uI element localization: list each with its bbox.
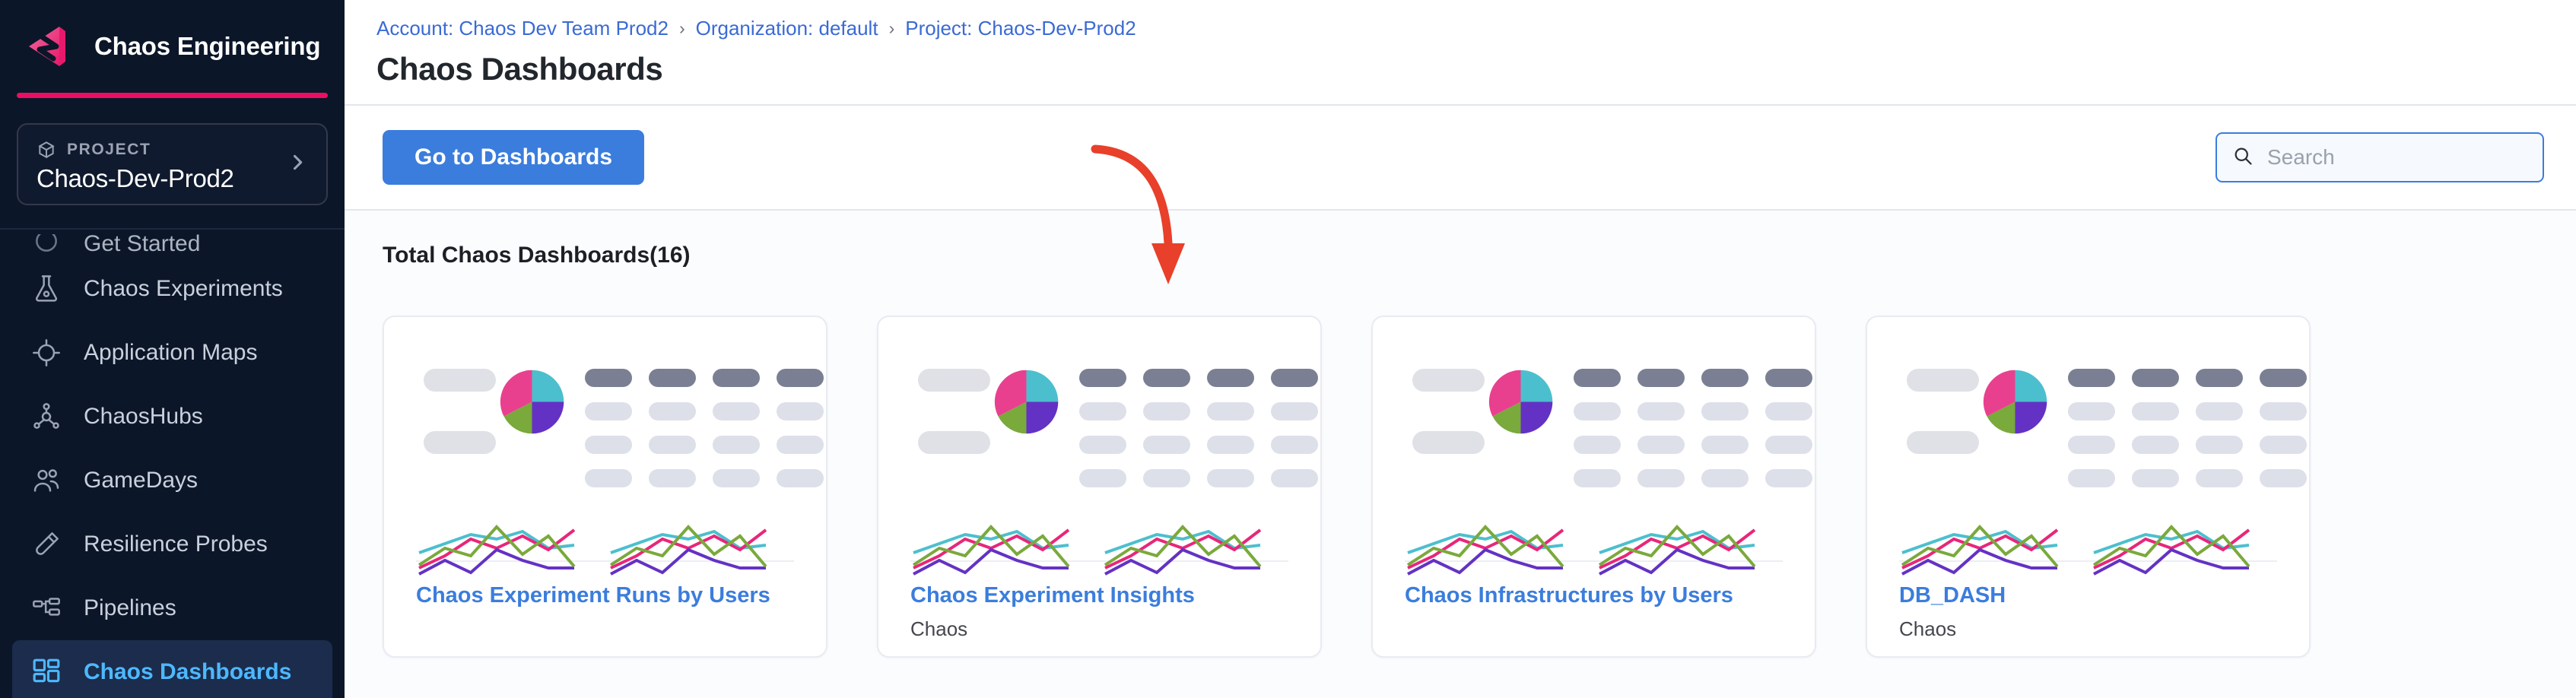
breadcrumb-separator-icon: ›	[889, 18, 895, 39]
app-root: Chaos Engineering PROJECT Chaos-Dev-Prod…	[0, 0, 2576, 698]
dashboard-card[interactable]: Chaos Experiment Insights Chaos	[877, 316, 1322, 658]
thumbnail-table-icon	[1574, 363, 1812, 487]
sidebar-item-label: ChaosHubs	[84, 404, 203, 430]
sidebar-item-label: Resilience Probes	[84, 531, 268, 557]
dashboard-card-subtitle: Chaos	[1899, 617, 2277, 641]
sidebar-item-application-maps[interactable]: Application Maps	[12, 321, 332, 385]
project-selector-label: PROJECT	[67, 141, 151, 159]
dashboard-thumbnail	[1373, 317, 1815, 560]
sidebar-brand: Chaos Engineering	[0, 0, 345, 93]
brand-accent-underline	[17, 93, 328, 98]
sidebar-item-label: Application Maps	[84, 340, 257, 366]
project-selector[interactable]: PROJECT Chaos-Dev-Prod2	[17, 123, 328, 205]
dashboard-card-title[interactable]: Chaos Experiment Runs by Users	[416, 583, 794, 608]
target-icon	[30, 337, 62, 369]
dashboard-card[interactable]: DB_DASH Chaos	[1866, 316, 2311, 658]
go-to-dashboards-button[interactable]: Go to Dashboards	[383, 130, 644, 185]
thumbnail-table-icon	[585, 363, 824, 487]
thumbnail-pill-column	[1412, 363, 1485, 454]
thumbnail-table-icon	[2068, 363, 2307, 487]
page-header: Account: Chaos Dev Team Prod2 › Organiza…	[345, 0, 2576, 106]
page-title: Chaos Dashboards	[376, 51, 2576, 87]
sidebar-item-label: Get Started	[84, 234, 200, 257]
sparkline-left-icon	[910, 513, 1085, 586]
sidebar-item-gamedays[interactable]: GameDays	[12, 449, 332, 512]
dashboard-grid-icon	[30, 656, 62, 688]
dashboard-card-title[interactable]: Chaos Experiment Insights	[910, 583, 1288, 608]
project-selector-label-row: PROJECT	[37, 140, 308, 160]
thumbnail-top-row	[910, 363, 1288, 487]
total-dashboards-label: Total Chaos Dashboards(16)	[383, 243, 2538, 268]
dashboard-card-title[interactable]: Chaos Infrastructures by Users	[1405, 583, 1783, 608]
search-input[interactable]	[2267, 145, 2527, 170]
dashboard-thumbnail	[384, 317, 826, 560]
sparkline-left-icon	[416, 513, 591, 586]
thumbnail-pill-column	[1907, 363, 1979, 454]
thumbnail-pill-column	[918, 363, 990, 454]
breadcrumb: Account: Chaos Dev Team Prod2 › Organiza…	[376, 17, 2576, 40]
sidebar-item-chaos-dashboards[interactable]: Chaos Dashboards	[12, 640, 332, 698]
thumbnail-top-row	[1899, 363, 2277, 487]
dashboard-card[interactable]: Chaos Infrastructures by Users	[1371, 316, 1816, 658]
sparkline-right-icon	[1596, 513, 1771, 586]
breadcrumb-account[interactable]: Account: Chaos Dev Team Prod2	[376, 17, 669, 40]
dashboard-card-title[interactable]: DB_DASH	[1899, 583, 2277, 608]
main-area: Account: Chaos Dev Team Prod2 › Organiza…	[345, 0, 2576, 698]
pipeline-icon	[30, 592, 62, 624]
thumbnail-pill-column	[424, 363, 496, 454]
sidebar-nav: Get Started Chaos Experiments	[0, 230, 345, 698]
sidebar-item-label: Pipelines	[84, 595, 176, 621]
search-icon	[2232, 145, 2254, 170]
people-icon	[30, 465, 62, 497]
sidebar-item-get-started[interactable]: Get Started	[12, 234, 332, 257]
dashboards-content: Total Chaos Dashboards(16)	[345, 211, 2576, 698]
sidebar-item-pipelines[interactable]: Pipelines	[12, 576, 332, 640]
breadcrumb-separator-icon: ›	[679, 18, 685, 39]
sparkline-right-icon	[2091, 513, 2266, 586]
harness-logo-icon	[23, 21, 75, 72]
search-box[interactable]	[2215, 132, 2544, 182]
rocket-icon	[30, 234, 62, 257]
dashboard-card[interactable]: Chaos Experiment Runs by Users	[383, 316, 827, 658]
thumbnail-pie-chart-icon	[990, 363, 1062, 438]
sparkline-right-icon	[608, 513, 783, 586]
test-tube-icon	[30, 528, 62, 560]
dashboard-thumbnail	[878, 317, 1320, 560]
sparkline-left-icon	[1405, 513, 1580, 586]
sidebar-item-label: Chaos Dashboards	[84, 659, 291, 685]
breadcrumb-organization[interactable]: Organization: default	[696, 17, 878, 40]
thumbnail-pie-chart-icon	[496, 363, 568, 438]
sidebar-item-label: GameDays	[84, 468, 198, 493]
sidebar-item-resilience-probes[interactable]: Resilience Probes	[12, 512, 332, 576]
breadcrumb-project[interactable]: Project: Chaos-Dev-Prod2	[905, 17, 1136, 40]
hub-network-icon	[30, 401, 62, 433]
thumbnail-table-icon	[1079, 363, 1318, 487]
cube-icon	[37, 140, 56, 160]
sparkline-left-icon	[1899, 513, 2074, 586]
action-toolbar: Go to Dashboards	[345, 106, 2576, 211]
flask-icon	[30, 273, 62, 305]
sidebar-item-label: Chaos Experiments	[84, 276, 283, 302]
sparkline-right-icon	[1102, 513, 1277, 586]
thumbnail-pie-chart-icon	[1485, 363, 1557, 438]
chevron-right-icon	[287, 152, 308, 177]
dashboard-card-grid: Chaos Experiment Runs by Users	[383, 316, 2538, 658]
thumbnail-top-row	[1405, 363, 1783, 487]
brand-title: Chaos Engineering	[94, 32, 320, 61]
sidebar-item-chaoshubs[interactable]: ChaosHubs	[12, 385, 332, 449]
thumbnail-pie-chart-icon	[1979, 363, 2051, 438]
dashboard-card-subtitle: Chaos	[910, 617, 1288, 641]
project-selector-name: Chaos-Dev-Prod2	[37, 164, 308, 193]
dashboard-thumbnail	[1867, 317, 2309, 560]
thumbnail-top-row	[416, 363, 794, 487]
sidebar: Chaos Engineering PROJECT Chaos-Dev-Prod…	[0, 0, 345, 698]
sidebar-item-chaos-experiments[interactable]: Chaos Experiments	[12, 257, 332, 321]
